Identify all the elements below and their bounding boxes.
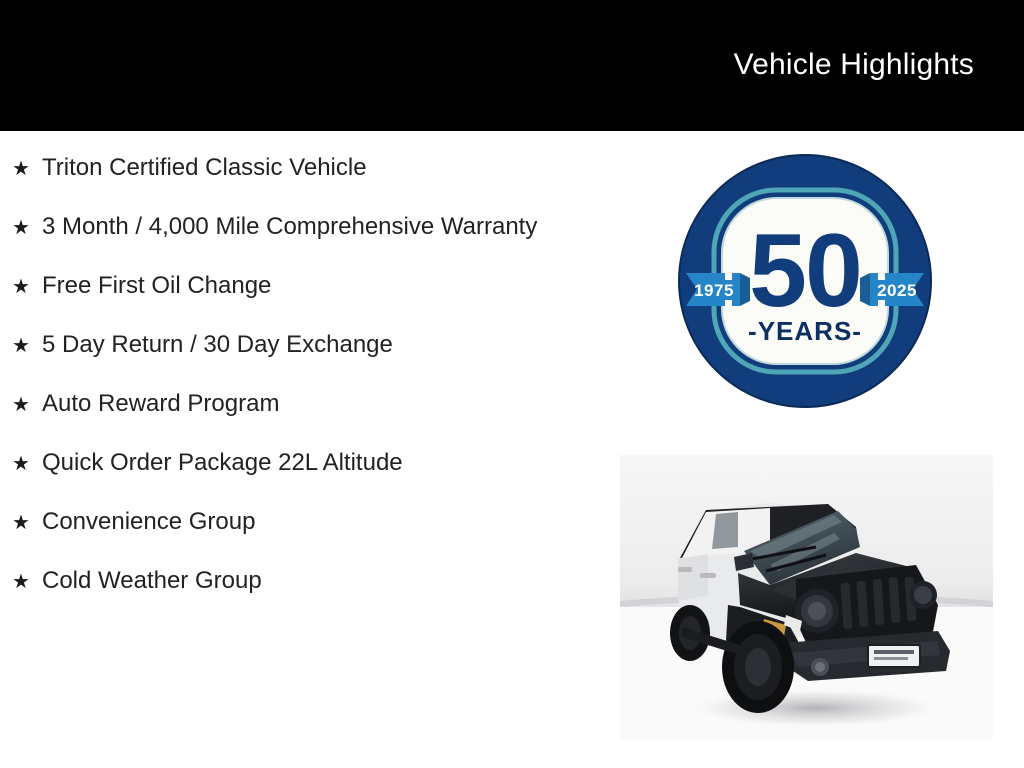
badge-end-year: 2025: [877, 281, 917, 300]
anniversary-badge-50-years-logo: 1975 2025 50 -YEARS-: [678, 154, 932, 408]
star-bullet-icon: ★: [12, 566, 42, 596]
dealer-license-plate: [868, 645, 920, 667]
vehicle-highlights-list: ★ Triton Certified Classic Vehicle ★ 3 M…: [0, 131, 600, 596]
list-item-label: Auto Reward Program: [42, 389, 542, 419]
list-item: ★ Quick Order Package 22L Altitude: [0, 448, 600, 478]
page-title: Vehicle Highlights: [734, 48, 974, 82]
star-bullet-icon: ★: [12, 212, 42, 242]
star-bullet-icon: ★: [12, 153, 42, 183]
vehicle-photo: [620, 455, 993, 740]
list-item: ★ Convenience Group: [0, 507, 600, 537]
star-bullet-icon: ★: [12, 271, 42, 301]
list-item-label: 5 Day Return / 30 Day Exchange: [42, 330, 542, 360]
list-item: ★ Free First Oil Change: [0, 271, 600, 301]
door-handle-rear: [678, 567, 692, 572]
badge-ribbon-right: 2025: [860, 273, 924, 306]
list-item: ★ Cold Weather Group: [0, 566, 600, 596]
list-item: ★ Auto Reward Program: [0, 389, 600, 419]
list-item-label: 3 Month / 4,000 Mile Comprehensive Warra…: [42, 212, 542, 242]
list-item: ★ 3 Month / 4,000 Mile Comprehensive War…: [0, 212, 600, 242]
door-handle-front: [700, 573, 716, 578]
badge-number: 50: [749, 213, 861, 329]
star-bullet-icon: ★: [12, 389, 42, 419]
badge-start-year: 1975: [694, 281, 734, 300]
list-item-label: Convenience Group: [42, 507, 542, 537]
badge-ribbon-left: 1975: [686, 273, 750, 306]
list-item: ★ 5 Day Return / 30 Day Exchange: [0, 330, 600, 360]
list-item-label: Triton Certified Classic Vehicle: [42, 153, 542, 183]
list-item-label: Cold Weather Group: [42, 566, 542, 596]
front-wheel: [722, 621, 794, 713]
star-bullet-icon: ★: [12, 507, 42, 537]
list-item-label: Quick Order Package 22L Altitude: [42, 448, 542, 478]
list-item: ★ Triton Certified Classic Vehicle: [0, 153, 600, 183]
star-bullet-icon: ★: [12, 448, 42, 478]
header-bar: Vehicle Highlights: [0, 0, 1024, 131]
badge-years-label: -YEARS-: [748, 316, 862, 346]
list-item-label: Free First Oil Change: [42, 271, 542, 301]
star-bullet-icon: ★: [12, 330, 42, 360]
vehicle-shadow: [685, 688, 945, 728]
